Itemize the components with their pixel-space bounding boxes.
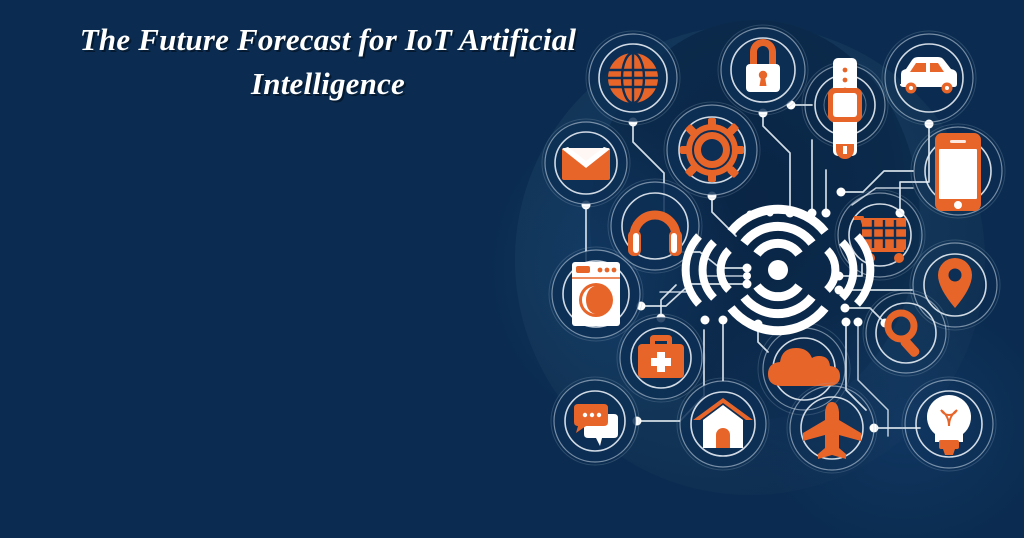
node-search[interactable] — [863, 290, 949, 376]
lightbulb-icon — [927, 395, 971, 455]
iot-signal-hub[interactable] — [686, 209, 871, 330]
trace-endpoint-dot — [854, 318, 863, 327]
node-first-aid-kit[interactable] — [617, 314, 705, 402]
iot-banner: The Future Forecast for IoT Artificial I… — [0, 0, 1024, 538]
map-pin-icon — [938, 258, 972, 308]
node-washing-machine[interactable] — [549, 247, 643, 341]
trace-endpoint-dot — [743, 280, 752, 289]
node-lightbulb[interactable] — [902, 377, 996, 471]
node-smartwatch[interactable] — [802, 58, 888, 159]
trace-endpoint-dot — [719, 316, 728, 325]
envelope-icon — [562, 147, 610, 180]
title-block: The Future Forecast for IoT Artificial I… — [8, 18, 648, 106]
node-map-pin[interactable] — [910, 240, 1000, 330]
node-cloud[interactable] — [758, 323, 850, 415]
trace-endpoint-dot — [743, 264, 752, 273]
node-car[interactable] — [882, 31, 976, 125]
car-icon — [900, 57, 957, 94]
hub-left-arcs — [686, 236, 729, 304]
washing-machine-icon — [572, 262, 620, 326]
trace-endpoint-dot — [837, 188, 846, 197]
trace-endpoint-dot — [925, 120, 934, 129]
node-envelope[interactable] — [542, 119, 630, 207]
trace-endpoint-dot — [822, 209, 831, 218]
node-shopping-cart[interactable] — [835, 190, 925, 280]
hub-right-arcs — [827, 236, 870, 304]
node-home[interactable] — [677, 378, 769, 470]
page-title: The Future Forecast for IoT Artificial I… — [8, 18, 648, 106]
node-smartphone[interactable] — [911, 124, 1005, 218]
search-icon — [888, 313, 921, 359]
node-gear[interactable] — [664, 102, 760, 198]
hub-center-dot — [768, 260, 788, 280]
gear-icon — [680, 118, 744, 182]
smartwatch-icon — [828, 58, 862, 159]
node-airplane[interactable] — [787, 383, 877, 473]
trace-endpoint-dot — [842, 318, 851, 327]
trace-endpoint-dot — [743, 272, 751, 280]
smartphone-icon — [935, 133, 981, 211]
node-chat[interactable] — [551, 377, 639, 465]
trace-endpoint-dot — [701, 316, 710, 325]
cloud-icon — [768, 348, 840, 386]
trace-endpoint-dot — [841, 304, 850, 313]
node-lock[interactable] — [718, 25, 808, 115]
